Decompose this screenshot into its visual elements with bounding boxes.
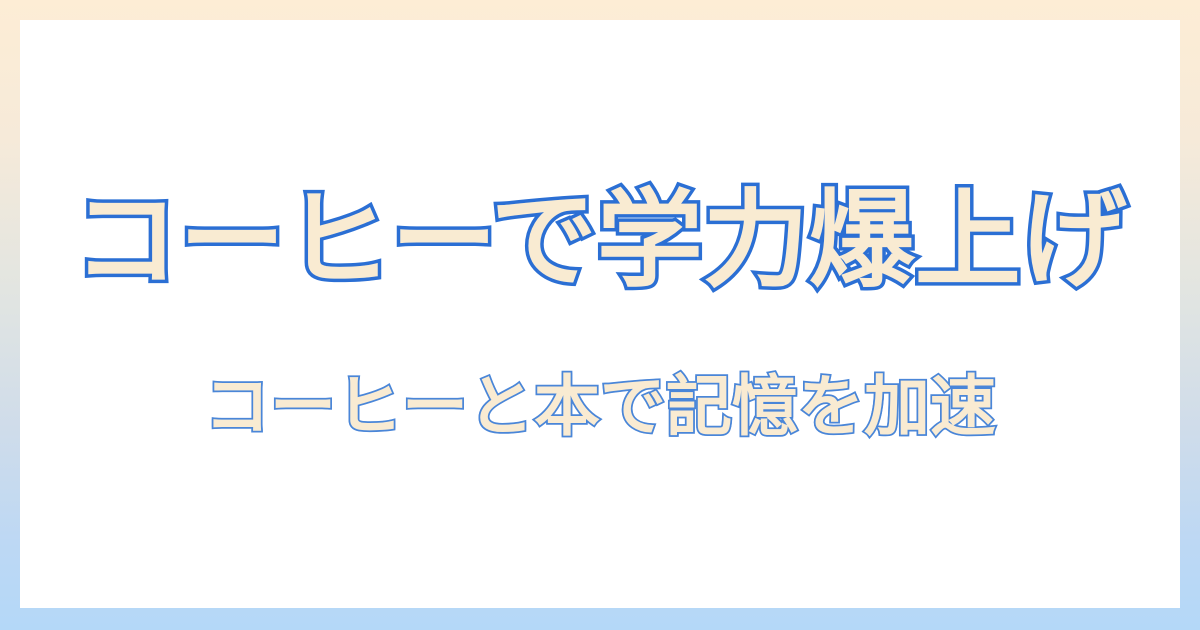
white-panel: コーヒーで学力爆上げ コーヒーで学力爆上げ コーヒーと本で記憶を加速 コーヒーと… [20, 20, 1180, 608]
card-content: コーヒーで学力爆上げ コーヒーで学力爆上げ コーヒーと本で記憶を加速 コーヒーと… [20, 20, 1180, 608]
ogp-card: コーヒーで学力爆上げ コーヒーで学力爆上げ コーヒーと本で記憶を加速 コーヒーと… [0, 0, 1200, 630]
page-subtitle: コーヒーと本で記憶を加速 コーヒーと本で記憶を加速 [204, 367, 996, 447]
page-subtitle-fill: コーヒーと本で記憶を加速 [204, 374, 996, 440]
page-title: コーヒーで学力爆上げ コーヒーで学力爆上げ [73, 181, 1127, 301]
page-title-fill: コーヒーで学力爆上げ [73, 188, 1127, 294]
